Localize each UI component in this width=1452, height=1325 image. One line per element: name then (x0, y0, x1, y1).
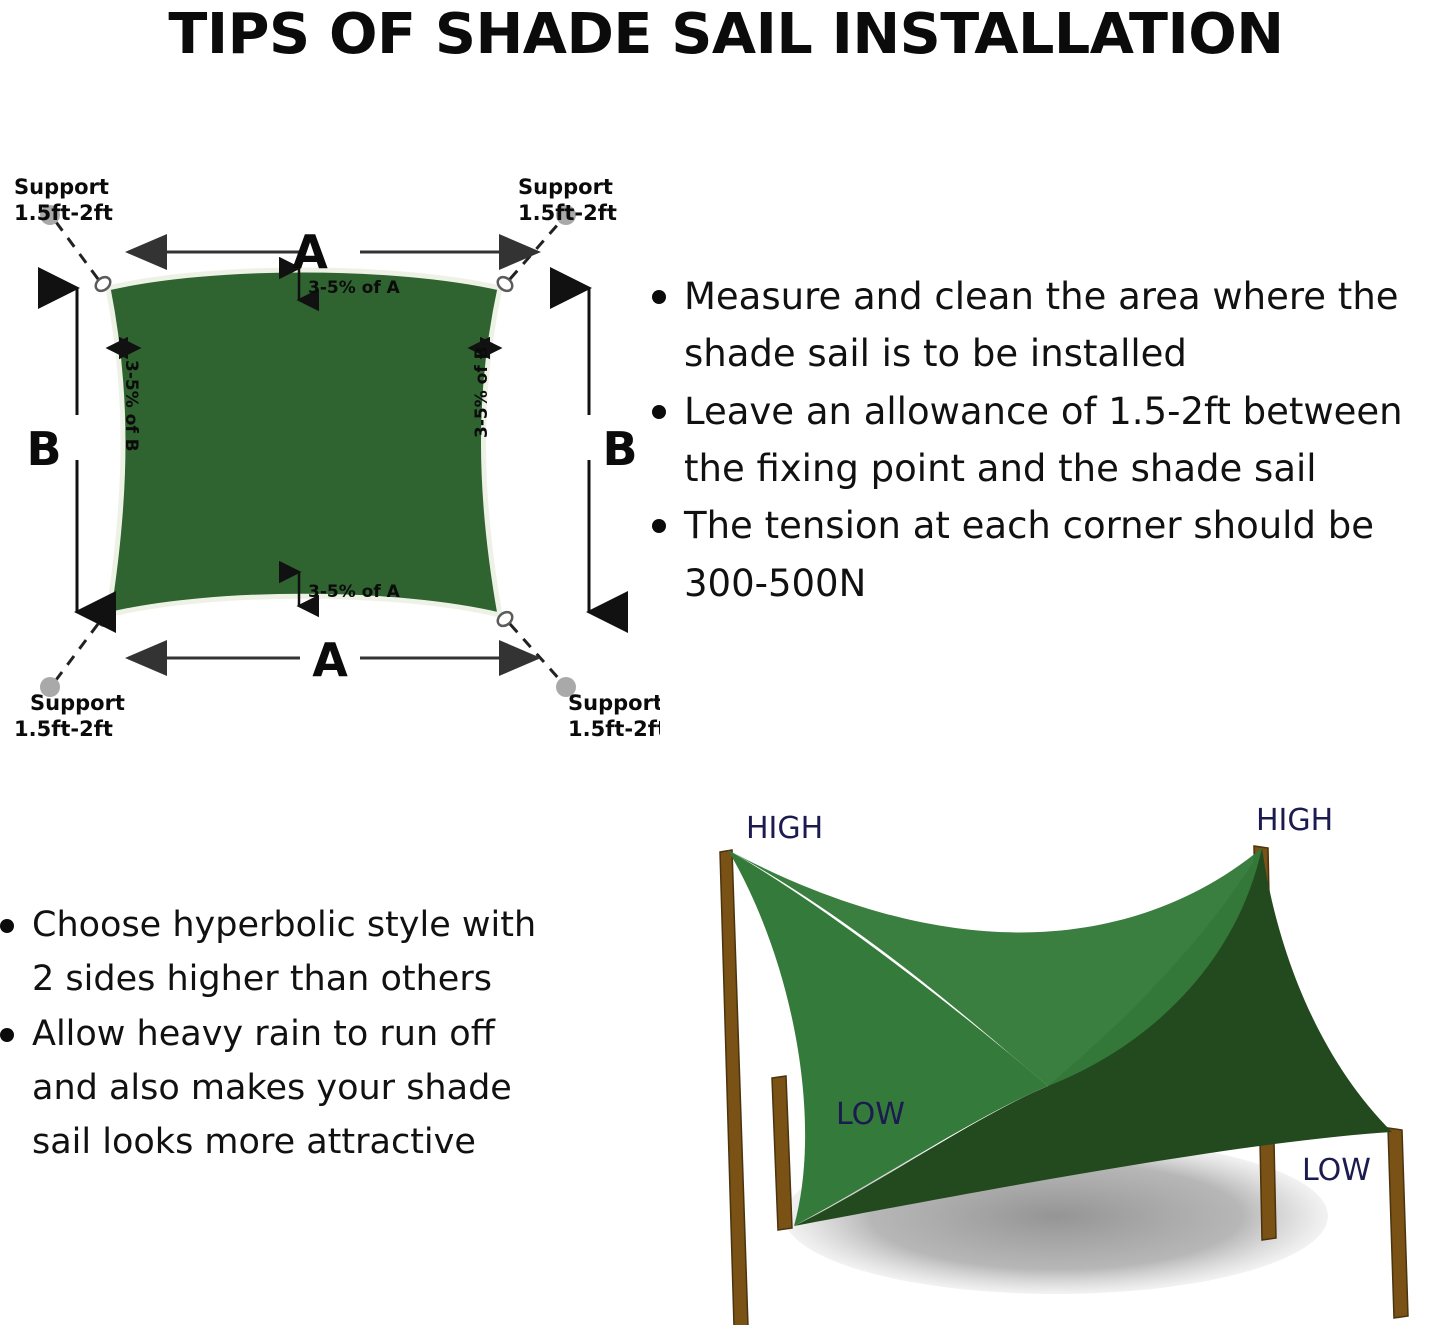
list-item: Measure and clean the area where the (652, 268, 1452, 325)
list-item: The tension at each corner should be (652, 497, 1452, 554)
support-label-line2: 1.5ft-2ft (568, 717, 660, 740)
support-label-line1: Support (14, 175, 109, 199)
support-label-line2: 1.5ft-2ft (518, 201, 617, 225)
label-high-left: HIGH (746, 811, 823, 846)
pole-front-left (772, 1076, 792, 1230)
pole-front-right (1388, 1128, 1408, 1318)
installation-tips-list-bottom: Choose hyperbolic style with 2 sides hig… (0, 898, 620, 1169)
curve-label-top: 3-5% of A (308, 278, 401, 298)
support-label-top-right: Support 1.5ft-2ft (518, 175, 617, 225)
support-label-line1: Support (518, 175, 613, 199)
tip-text: Allow heavy rain to run off (14, 1007, 620, 1061)
tip-text: 2 sides higher than others (14, 952, 620, 1006)
support-label-bottom-right: Support 1.5ft-2ft (568, 691, 660, 740)
dimension-label-b-left: B (26, 422, 61, 476)
bullet-icon (0, 919, 14, 933)
support-label-line1: Support (568, 691, 660, 715)
list-item: sail looks more attractive (0, 1115, 620, 1169)
list-item: shade sail is to be installed (652, 325, 1452, 382)
list-item: 300-500N (652, 555, 1452, 612)
list-item: the fixing point and the shade sail (652, 440, 1452, 497)
tip-text: shade sail is to be installed (666, 325, 1452, 382)
curve-label-bottom: 3-5% of A (308, 582, 401, 602)
pole-back-left (720, 850, 748, 1325)
page-title: TIPS OF SHADE SAIL INSTALLATION (0, 2, 1452, 67)
support-label-bottom-left: Support 1.5ft-2ft (14, 691, 125, 740)
label-low-left: LOW (836, 1097, 905, 1132)
support-label-line2: 1.5ft-2ft (14, 717, 113, 740)
curve-label-right: 3-5% of B (472, 346, 492, 438)
tip-text: The tension at each corner should be (666, 497, 1452, 554)
tip-text: Measure and clean the area where the (666, 268, 1452, 325)
tip-text: Choose hyperbolic style with (14, 898, 620, 952)
installation-tips-list-right: Measure and clean the area where the sha… (652, 268, 1452, 612)
rectangular-sail-diagram: Support 1.5ft-2ft Support 1.5ft-2ft Supp… (0, 160, 660, 740)
curve-label-left: 3-5% of B (121, 360, 141, 452)
tip-text: sail looks more attractive (14, 1115, 620, 1169)
list-item: Allow heavy rain to run off (0, 1007, 620, 1061)
support-label-line1: Support (30, 691, 125, 715)
tip-text: and also makes your shade (14, 1061, 620, 1115)
bullet-icon (0, 1028, 14, 1042)
sail-shape (108, 270, 500, 615)
support-label-line2: 1.5ft-2ft (14, 201, 113, 225)
label-low-right: LOW (1302, 1153, 1371, 1188)
list-item: and also makes your shade (0, 1061, 620, 1115)
dimension-label-b-right: B (602, 422, 637, 476)
tip-text: Leave an allowance of 1.5-2ft between (666, 383, 1452, 440)
label-high-right: HIGH (1256, 803, 1333, 838)
bullet-icon (652, 519, 666, 533)
bullet-icon (652, 405, 666, 419)
list-item: Leave an allowance of 1.5-2ft between (652, 383, 1452, 440)
list-item: 2 sides higher than others (0, 952, 620, 1006)
dimension-label-a-bottom: A (312, 633, 348, 687)
list-item: Choose hyperbolic style with (0, 898, 620, 952)
support-label-top-left: Support 1.5ft-2ft (14, 175, 113, 225)
dimension-label-a-top: A (292, 225, 328, 279)
bullet-icon (652, 290, 666, 304)
hyperbolic-sail-diagram: HIGH HIGH LOW LOW (676, 786, 1452, 1325)
tip-text: the fixing point and the shade sail (666, 440, 1452, 497)
tip-text: 300-500N (666, 555, 1452, 612)
